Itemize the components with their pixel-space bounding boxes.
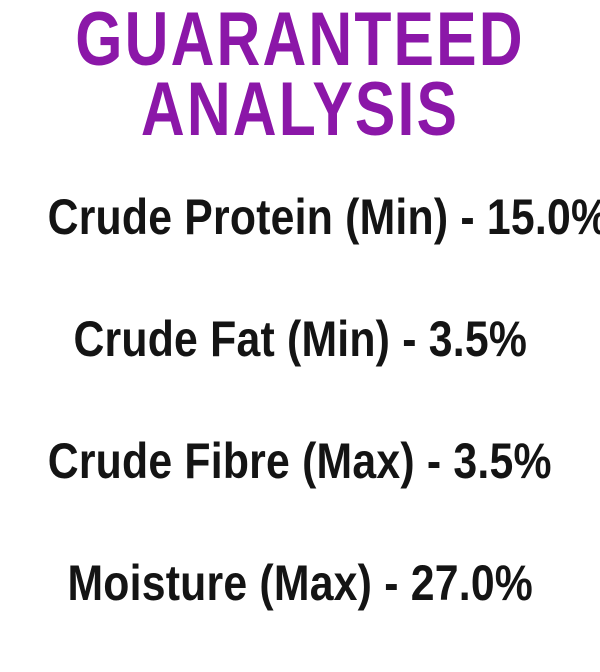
list-item: Crude Fat (Min) - 3.5% bbox=[0, 306, 600, 428]
analysis-list: Crude Protein (Min) - 15.0% Crude Fat (M… bbox=[0, 186, 600, 672]
guaranteed-analysis-panel: GUARANTEED ANALYSIS Crude Protein (Min) … bbox=[0, 0, 600, 588]
list-item: Crude Fibre (Max) - 3.5% bbox=[0, 428, 600, 550]
list-item: Crude Protein (Min) - 15.0% bbox=[0, 186, 600, 306]
analysis-row-crude-protein: Crude Protein (Min) - 15.0% bbox=[48, 192, 600, 242]
list-item: Moisture (Max) - 27.0% bbox=[0, 550, 600, 672]
analysis-row-crude-fat: Crude Fat (Min) - 3.5% bbox=[73, 314, 527, 364]
analysis-row-moisture: Moisture (Max) - 27.0% bbox=[67, 558, 533, 608]
panel-heading: GUARANTEED ANALYSIS bbox=[0, 2, 600, 144]
heading-line-analysis: ANALYSIS bbox=[54, 72, 546, 146]
analysis-row-crude-fibre: Crude Fibre (Max) - 3.5% bbox=[48, 436, 552, 486]
